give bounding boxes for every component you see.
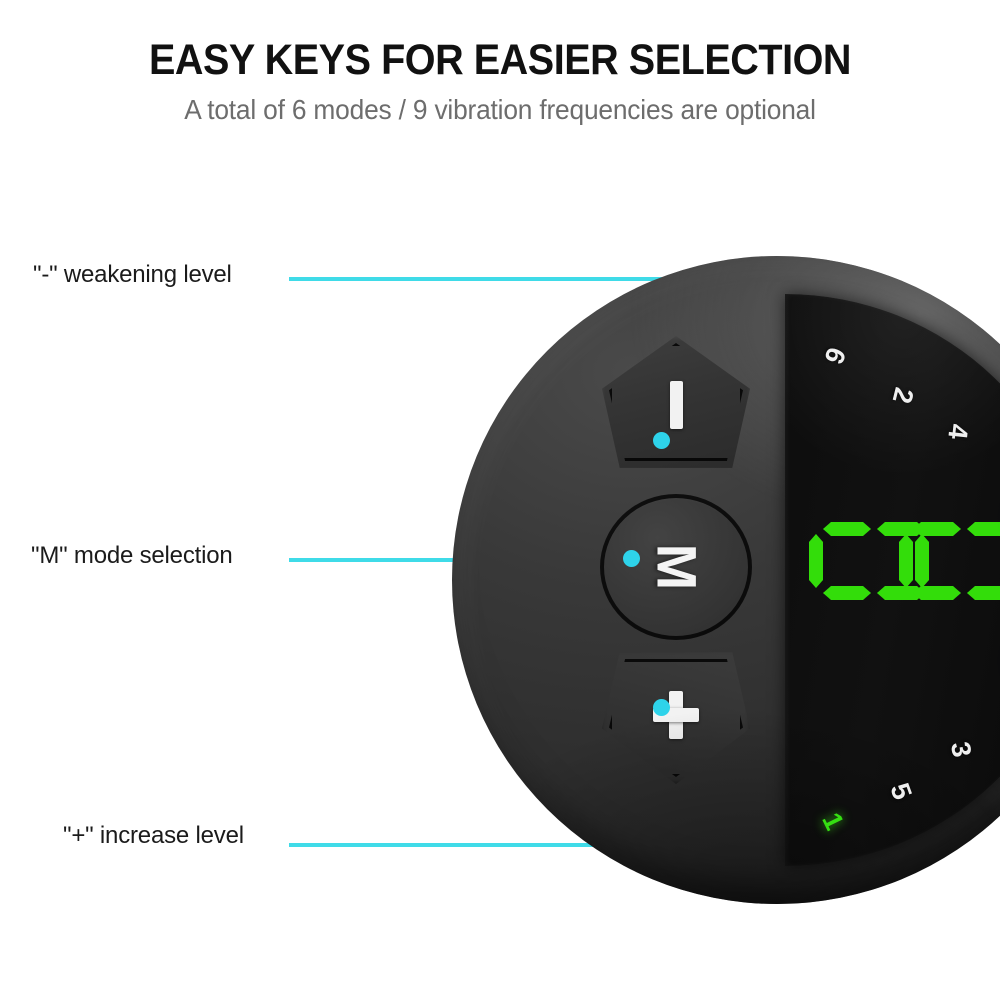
segment-e: [913, 522, 961, 536]
segment-e: [823, 522, 871, 536]
mode-numeral-1: 1: [815, 808, 849, 835]
plus-button[interactable]: [602, 652, 750, 784]
leader-dot-mode: [623, 550, 640, 567]
callout-label-plus: "+" increase level: [63, 822, 244, 850]
led-display-panel: 624351: [785, 294, 1000, 866]
mode-numeral-6: 6: [817, 343, 851, 369]
mode-letter-icon: M: [648, 544, 704, 591]
segment-d: [899, 534, 913, 588]
mode-numeral-3: 3: [944, 739, 977, 759]
leader-dot-minus: [653, 432, 670, 449]
segment-c: [913, 586, 961, 600]
segment-c: [823, 586, 871, 600]
infographic-canvas: EASY KEYS FOR EASIER SELECTION A total o…: [0, 0, 1000, 1000]
leader-line-minus-horizontal: [289, 277, 664, 281]
segment-b: [967, 586, 1000, 600]
seven-segment-digit-1: [897, 521, 1000, 601]
segment-f: [967, 522, 1000, 536]
segment-d: [809, 534, 823, 588]
callout-label-mode: "M" mode selection: [31, 542, 233, 570]
mode-numeral-5: 5: [883, 779, 917, 804]
page-title: EASY KEYS FOR EASIER SELECTION: [40, 38, 960, 83]
mode-numeral-4: 4: [941, 422, 973, 440]
leader-dot-plus: [653, 699, 670, 716]
mode-button[interactable]: M: [600, 494, 752, 640]
seven-segment-display: [829, 499, 999, 623]
minus-button[interactable]: [602, 336, 750, 468]
minus-icon: [670, 381, 683, 429]
header-block: EASY KEYS FOR EASIER SELECTION A total o…: [0, 38, 1000, 126]
callout-label-minus: "-" weakening level: [33, 261, 232, 289]
mode-numeral-2: 2: [886, 384, 920, 406]
page-subtitle: A total of 6 modes / 9 vibration frequen…: [30, 94, 970, 126]
massager-device-body: M 624351: [452, 256, 1000, 904]
